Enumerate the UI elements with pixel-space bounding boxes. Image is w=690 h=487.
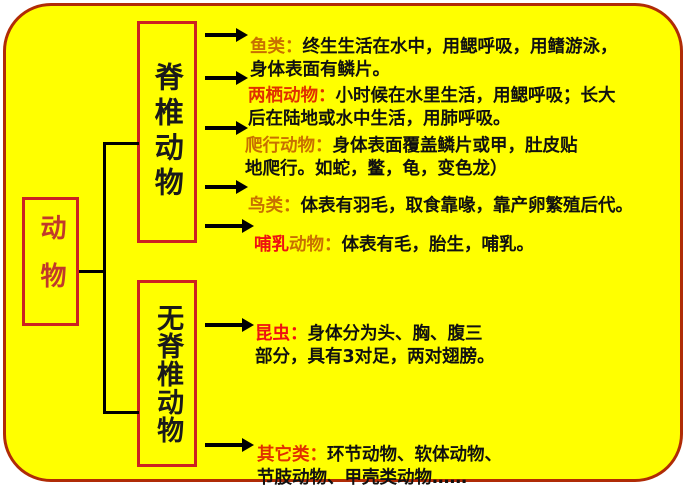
entry-other-colon: ： bbox=[310, 445, 328, 465]
entry-mammal-colon: ： bbox=[324, 235, 342, 255]
entry-insect: 昆虫：身体分为头、胸、腹三 部分，具有3对足，两对翅膀。 bbox=[255, 300, 675, 368]
arrow-reptile bbox=[205, 126, 237, 130]
connector-vertebrate-stub bbox=[103, 142, 139, 145]
entry-amphibian-colon: ： bbox=[318, 86, 336, 106]
arrow-bird bbox=[205, 185, 237, 189]
node-animal: 动物 bbox=[22, 197, 79, 326]
entry-mammal-term: 动物 bbox=[289, 235, 324, 255]
connector-spine bbox=[103, 142, 106, 414]
node-invertebrate-label: 无脊椎动物 bbox=[152, 304, 182, 444]
arrow-insect bbox=[205, 323, 243, 327]
node-invertebrate: 无脊椎动物 bbox=[137, 280, 197, 467]
connector-root-stub bbox=[79, 270, 106, 273]
entry-insect-term: 昆虫 bbox=[255, 324, 290, 344]
entry-other-term: 其它类 bbox=[257, 445, 310, 465]
entry-reptile-term: 爬行动物 bbox=[245, 136, 315, 156]
node-animal-label: 动物 bbox=[36, 214, 65, 310]
entry-fish-colon: ： bbox=[285, 37, 303, 57]
entry-other: 其它类：环节动物、软体动物、 节肢动物、甲壳类动物…… bbox=[257, 421, 677, 487]
arrow-amphibian bbox=[205, 76, 237, 80]
arrow-fish bbox=[205, 33, 237, 37]
entry-fish-term: 鱼类 bbox=[250, 37, 285, 57]
entry-mammal-desc: 体表有毛，胎生，哺乳。 bbox=[342, 235, 535, 255]
entry-reptile-colon: ： bbox=[315, 136, 333, 156]
connector-invertebrate-stub bbox=[103, 411, 139, 414]
arrow-other bbox=[205, 443, 243, 447]
entry-mammal: 哺乳动物：体表有毛，胎生，哺乳。 bbox=[254, 211, 684, 257]
node-vertebrate: 脊椎动物 bbox=[137, 21, 197, 243]
diagram-canvas: 动物 脊椎动物 无脊椎动物 鱼类：终生生活在水中，用鳃呼吸，用鳍游泳， 身体表面… bbox=[0, 0, 690, 487]
entry-reptile: 爬行动物：身体表面覆盖鳞片或甲，肚皮贴 地爬行。如蛇，鳖，龟，变色龙） bbox=[245, 112, 683, 180]
entry-amphibian-term: 两栖动物 bbox=[248, 86, 318, 106]
arrow-mammal bbox=[205, 224, 243, 228]
node-vertebrate-label: 脊椎动物 bbox=[151, 62, 183, 202]
entry-insect-colon: ： bbox=[290, 324, 308, 344]
entry-mammal-term-red: 哺乳 bbox=[254, 235, 289, 255]
